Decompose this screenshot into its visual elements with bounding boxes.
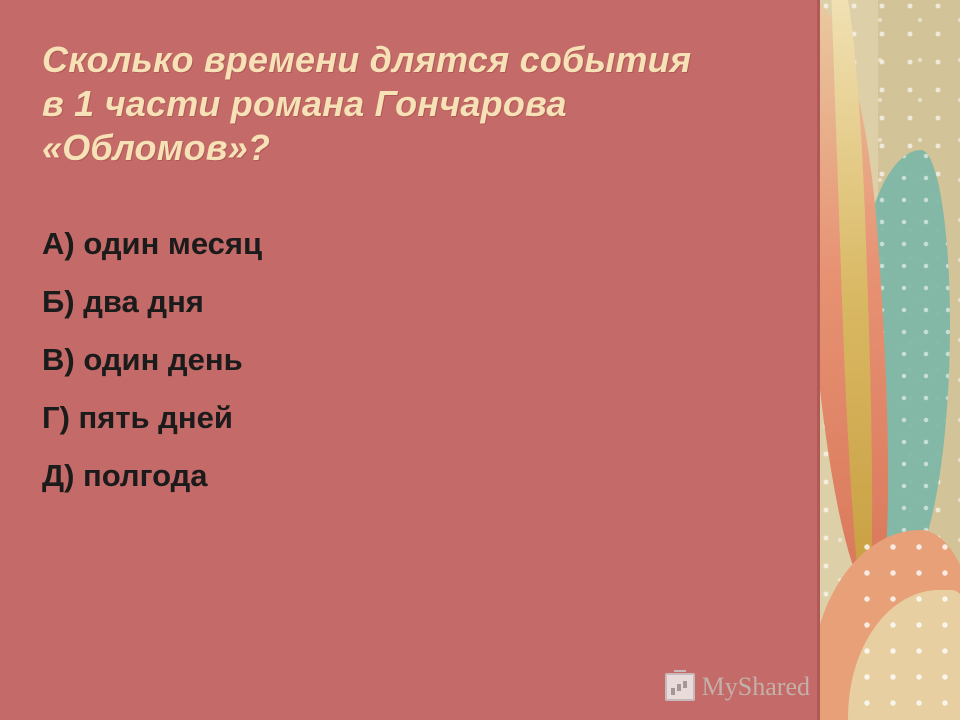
presentation-screen-icon (665, 673, 695, 701)
title-line-2: в 1 части романа Гончарова (42, 82, 790, 126)
slide-canvas: Сколько времени длятся события в 1 части… (0, 0, 960, 720)
answer-option-g[interactable]: Г) пять дней (42, 402, 790, 433)
answer-option-a[interactable]: А) один месяц (42, 228, 790, 259)
watermark-label: MyShared (702, 672, 810, 702)
answer-options-list: А) один месяц Б) два дня В) один день Г)… (42, 228, 790, 491)
slide-content: Сколько времени длятся события в 1 части… (0, 0, 820, 720)
answer-option-b[interactable]: Б) два дня (42, 286, 790, 317)
title-line-1: Сколько времени длятся события (42, 38, 790, 82)
watermark: MyShared (665, 672, 810, 702)
page-title: Сколько времени длятся события в 1 части… (42, 38, 790, 170)
answer-option-d[interactable]: Д) полгода (42, 460, 790, 491)
bottom-floral-pattern (860, 540, 960, 720)
title-line-3: «Обломов»? (42, 126, 790, 170)
decorative-side-band (820, 0, 960, 720)
answer-option-v[interactable]: В) один день (42, 344, 790, 375)
